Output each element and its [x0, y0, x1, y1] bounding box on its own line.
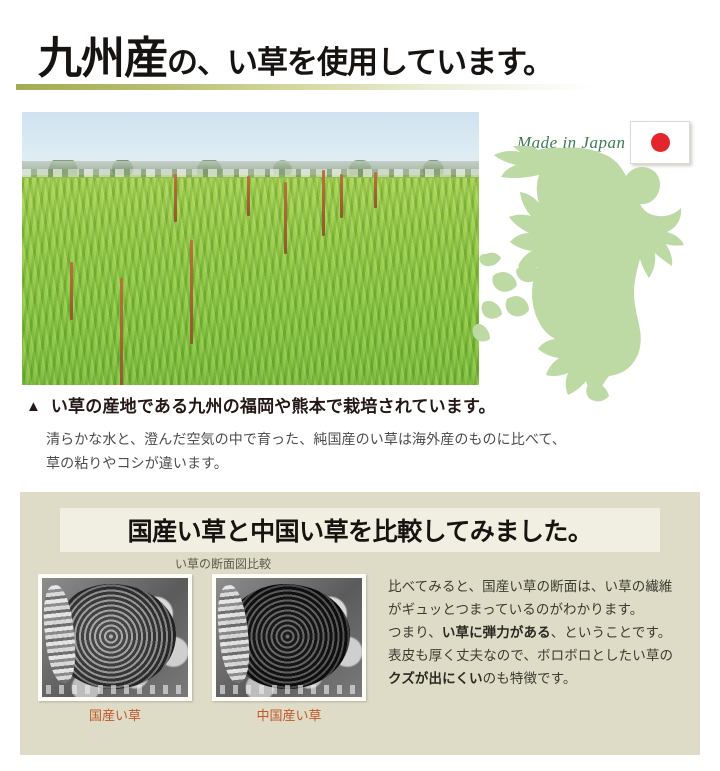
comparison-line-3-post: 、ということです。 [551, 625, 672, 640]
igusa-field-photo [22, 112, 479, 385]
micrograph-scalebar [46, 685, 184, 694]
triangle-bullet-icon: ▲ [26, 396, 41, 418]
photo-caption-body-line2: 草の粘りやコシが違います。 [46, 451, 566, 475]
micrograph-chinese-image [216, 578, 362, 697]
micrograph-domestic-image [42, 578, 188, 697]
kyushu-map-icon [468, 146, 700, 408]
micrograph-scalebar [220, 685, 358, 694]
cross-section-label: い草の断面図比較 [175, 555, 271, 572]
comparison-line-2: がギュッとつまっているのがわかります。 [388, 598, 688, 621]
field-stake [190, 240, 193, 344]
field-stake [174, 174, 177, 222]
comparison-line-3-pre: つまり、 [388, 625, 442, 640]
photo-caption-body-line1: 清らかな水と、澄んだ空気の中で育った、純国産のい草は海外産のものに比べて、 [46, 427, 566, 451]
comparison-title: 国産い草と中国い草を比較してみました。 [128, 512, 593, 548]
micrograph-chinese [212, 574, 366, 701]
comparison-line-4: 表皮も厚く丈夫なので、ボロボロとしたい草の [388, 644, 688, 667]
comparison-description: 比べてみると、国産い草の断面は、い草の繊維 がギュッとつまっているのがわかります… [388, 575, 688, 690]
micrograph-chinese-caption: 中国産い草 [212, 705, 366, 724]
field-stake [340, 174, 343, 218]
photo-caption-body: 清らかな水と、澄んだ空気の中で育った、純国産のい草は海外産のものに比べて、 草の… [46, 427, 566, 475]
comparison-panel: 国産い草と中国い草を比較してみました。 い草の断面図比較 国産い草 中国産い草 … [20, 492, 700, 755]
page-title-emphasis: 九州産 [38, 34, 167, 83]
comparison-line-1: 比べてみると、国産い草の断面は、い草の繊維 [388, 575, 688, 598]
comparison-line-3-bold: い草に弾力がある [442, 625, 551, 640]
photo-grass-field [22, 178, 479, 385]
comparison-title-band: 国産い草と中国い草を比較してみました。 [60, 508, 660, 552]
page-title-rest: の、い草を使用しています。 [167, 45, 553, 80]
comparison-line-5-bold: クズが出にくい [388, 671, 483, 686]
title-divider [16, 84, 596, 90]
field-stake [247, 176, 250, 216]
photo-caption: ▲ い草の産地である九州の福岡や熊本で栽培されています。 [26, 396, 496, 418]
micrograph-domestic [38, 574, 192, 701]
micrograph-domestic-caption: 国産い草 [38, 705, 192, 724]
field-stake [322, 170, 325, 236]
comparison-line-5: クズが出にくいのも特徴です。 [388, 667, 688, 690]
comparison-line-3: つまり、い草に弾力がある、ということです。 [388, 621, 688, 644]
page-title: 九州産の、い草を使用しています。 [38, 22, 553, 86]
field-stake [284, 182, 287, 254]
field-stake [120, 278, 123, 385]
field-stake [70, 262, 73, 320]
field-stake [374, 172, 377, 208]
comparison-line-5-post: のも特徴です。 [483, 671, 577, 686]
photo-caption-lead: い草の産地である九州の福岡や熊本で栽培されています。 [51, 396, 496, 418]
